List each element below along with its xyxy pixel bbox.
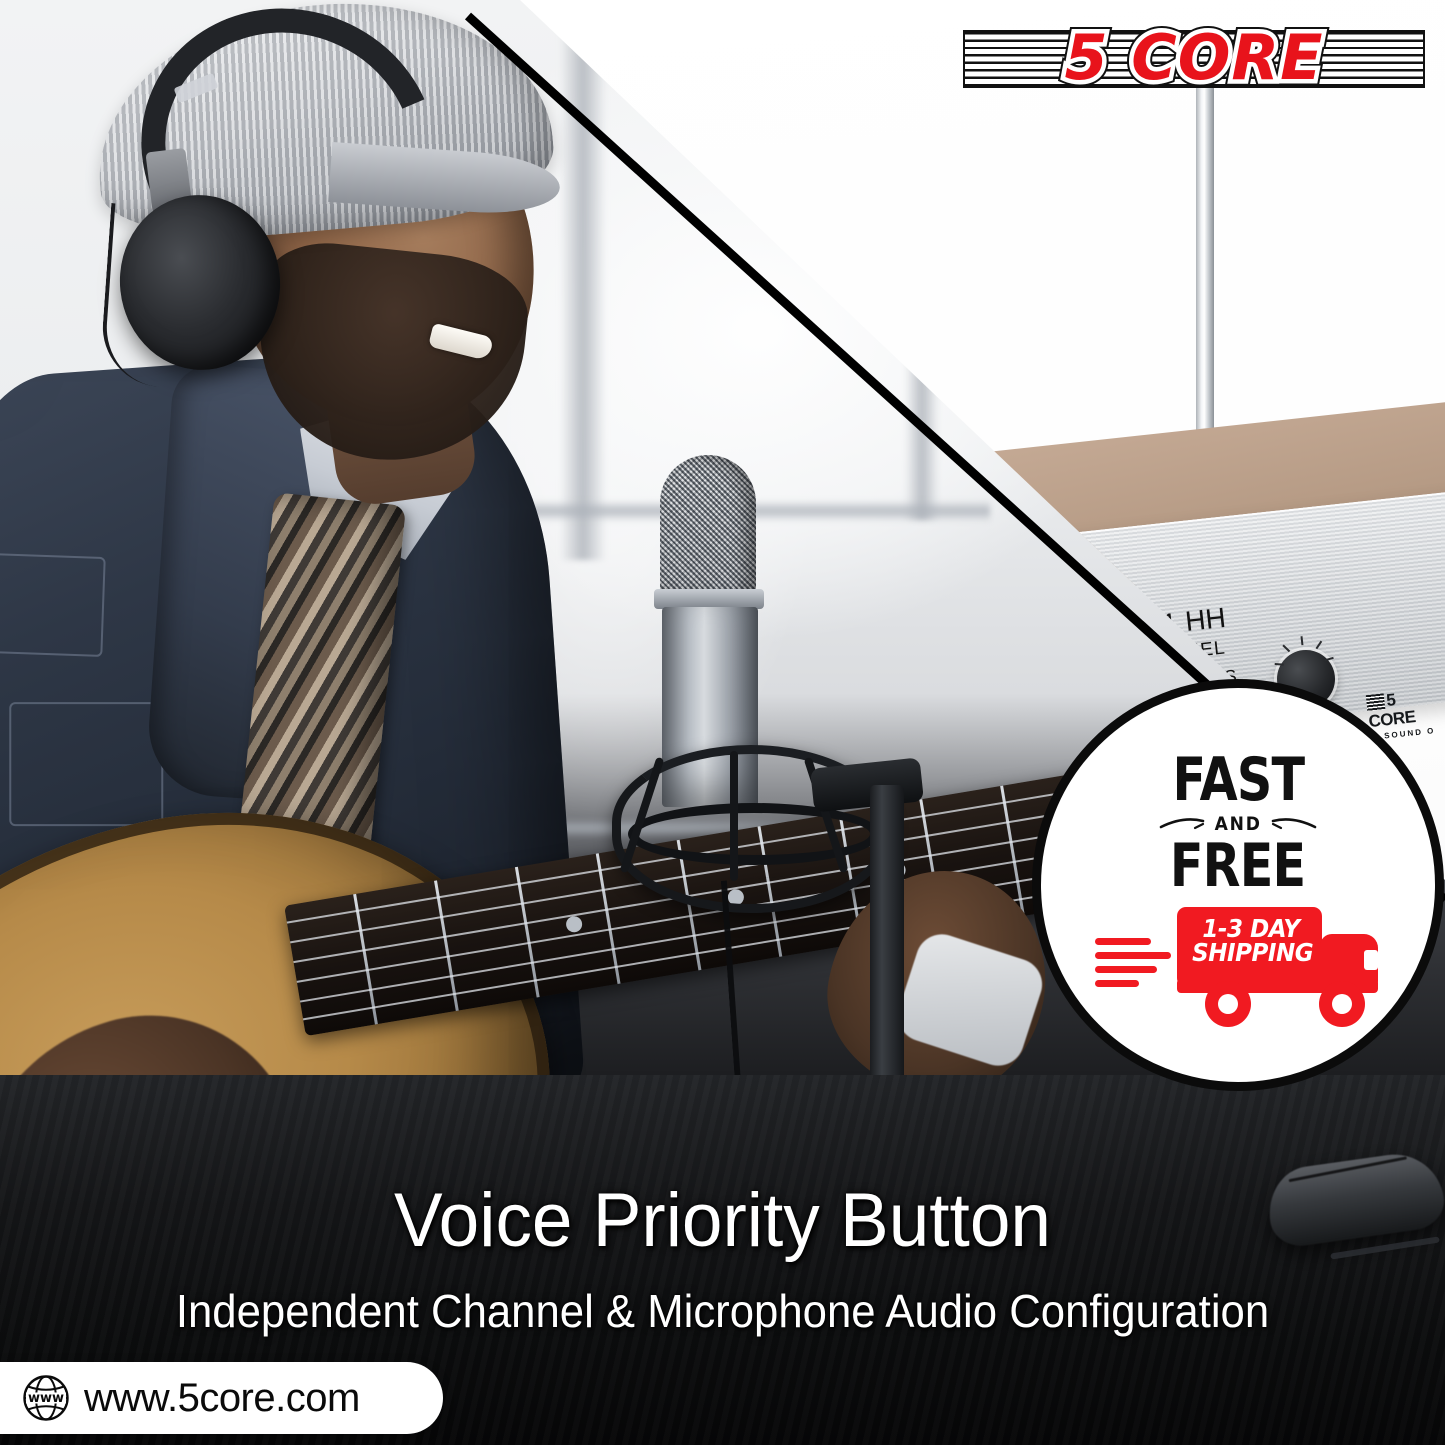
logo-stripes-icon <box>1366 693 1386 711</box>
subtitle: Independent Channel & Microphone Audio C… <box>36 1288 1409 1334</box>
website-url-text: www.5core.com <box>84 1378 360 1418</box>
mic-grille <box>660 455 756 595</box>
chrome-mic-stand-rod <box>1196 60 1214 480</box>
svg-text:www: www <box>28 1391 64 1406</box>
truck-shipping-text: 1-3 DAY SHIPPING <box>1192 917 1310 966</box>
flourish-left-icon <box>1159 818 1205 830</box>
brand-logo: 5 CORE 5 CORE 5 CORE <box>963 12 1425 104</box>
globe-www-icon: www <box>22 1374 70 1422</box>
headline: Voice Priority Button <box>29 1183 1416 1259</box>
jacket-pocket <box>0 553 106 657</box>
badge-fast-text: FAST <box>1172 752 1304 809</box>
speed-lines-icon <box>1095 938 1171 987</box>
headphone-cable <box>99 203 175 387</box>
website-pill[interactable]: www www.5core.com <box>0 1362 443 1434</box>
jacket-pocket <box>9 702 163 826</box>
flourish-right-icon <box>1271 818 1317 830</box>
fast-free-shipping-badge: FAST AND FREE 1- <box>1032 679 1444 1091</box>
badge-free-text: FREE <box>1170 838 1305 895</box>
brand-logo-text: 5 CORE <box>963 12 1425 104</box>
delivery-truck-icon: 1-3 DAY SHIPPING <box>1177 907 1382 1019</box>
product-marketing-image: MIC 301 HH E DUAL CHANNEL MICROPHONE S 5… <box>0 0 1445 1445</box>
truck-text-line1: 1-3 DAY <box>1192 917 1310 942</box>
shipping-truck-graphic: 1-3 DAY SHIPPING <box>1095 907 1382 1019</box>
mic-ring <box>654 589 764 609</box>
truck-text-line2: SHIPPING <box>1192 941 1310 966</box>
condenser-microphone <box>612 455 932 925</box>
